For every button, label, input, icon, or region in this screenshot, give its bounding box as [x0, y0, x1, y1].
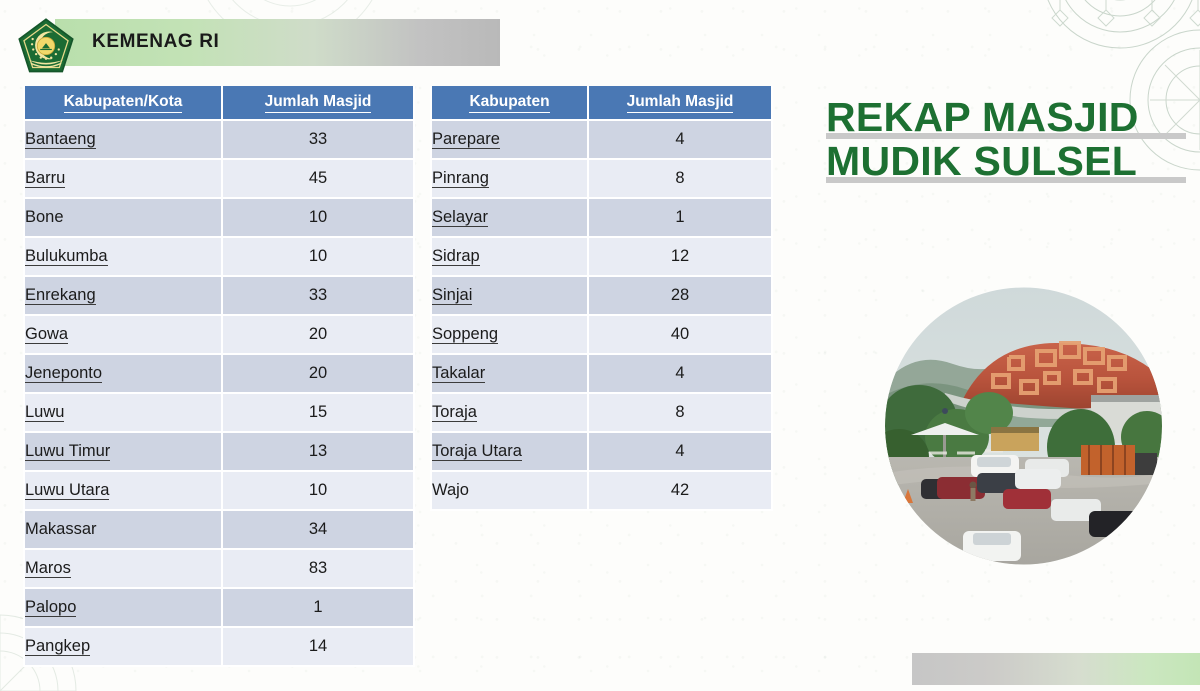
table-row[interactable]: Sidrap 12 — [431, 237, 772, 276]
cell-kabupaten: Sidrap — [431, 237, 588, 276]
cell-kabupaten: Wajo — [431, 471, 588, 510]
table2-body: Parepare 4 Pinrang 8 Selayar 1 Sidrap 12… — [431, 120, 772, 510]
cell-kabupaten: Parepare — [431, 120, 588, 159]
cell-jumlah: 34 — [222, 510, 414, 549]
header-title: KEMENAG RI — [92, 31, 219, 53]
table1-header-kabupaten: Kabupaten/Kota — [24, 86, 222, 120]
table-row[interactable]: Wajo 42 — [431, 471, 772, 510]
cell-jumlah: 12 — [588, 237, 772, 276]
cell-jumlah: 15 — [222, 393, 414, 432]
cell-jumlah: 20 — [222, 354, 414, 393]
cell-jumlah: 10 — [222, 198, 414, 237]
cell-kabupaten: Soppeng — [431, 315, 588, 354]
table1-body: Bantaeng 33 Barru 45 Bone 10 Bulukumba 1… — [24, 120, 414, 666]
table-row[interactable]: Luwu 15 — [24, 393, 414, 432]
cell-jumlah: 10 — [222, 237, 414, 276]
cell-jumlah: 20 — [222, 315, 414, 354]
cell-jumlah: 4 — [588, 354, 772, 393]
rest-area-dome-parking-photo — [885, 287, 1162, 565]
cell-jumlah: 8 — [588, 159, 772, 198]
table-row[interactable]: Bantaeng 33 — [24, 120, 414, 159]
cell-kabupaten: Maros — [24, 549, 222, 588]
table-row[interactable]: Bulukumba 10 — [24, 237, 414, 276]
table2-header-kabupaten: Kabupaten — [431, 86, 588, 120]
cell-kabupaten: Gowa — [24, 315, 222, 354]
table1-header-jumlah: Jumlah Masjid — [222, 86, 414, 120]
cell-kabupaten: Takalar — [431, 354, 588, 393]
cell-kabupaten: Luwu Timur — [24, 432, 222, 471]
table-row[interactable]: Luwu Timur 13 — [24, 432, 414, 471]
table2-header-row: Kabupaten Jumlah Masjid — [431, 86, 772, 120]
cell-kabupaten: Makassar — [24, 510, 222, 549]
table-row[interactable]: Selayar 1 — [431, 198, 772, 237]
kemenag-logo-icon — [16, 17, 76, 75]
table-row[interactable]: Gowa 20 — [24, 315, 414, 354]
bottom-accent-bar — [912, 653, 1200, 685]
cell-kabupaten: Bulukumba — [24, 237, 222, 276]
cell-kabupaten: Selayar — [431, 198, 588, 237]
table-row[interactable]: Luwu Utara 10 — [24, 471, 414, 510]
cell-jumlah: 10 — [222, 471, 414, 510]
cell-jumlah: 4 — [588, 120, 772, 159]
cell-kabupaten: Luwu Utara — [24, 471, 222, 510]
cell-kabupaten: Enrekang — [24, 276, 222, 315]
page-title: REKAP MASJID MUDIK SULSEL — [826, 96, 1186, 184]
cell-kabupaten: Palopo — [24, 588, 222, 627]
table-row[interactable]: Parepare 4 — [431, 120, 772, 159]
table-row[interactable]: Jeneponto 20 — [24, 354, 414, 393]
cell-jumlah: 33 — [222, 276, 414, 315]
table2-header-jumlah: Jumlah Masjid — [588, 86, 772, 120]
cell-kabupaten: Bantaeng — [24, 120, 222, 159]
cell-kabupaten: Pangkep — [24, 627, 222, 666]
table-row[interactable]: Palopo 1 — [24, 588, 414, 627]
page-title-line-2: MUDIK SULSEL — [826, 140, 1186, 184]
table-row[interactable]: Sinjai 28 — [431, 276, 772, 315]
cell-jumlah: 83 — [222, 549, 414, 588]
table-kabupaten: Kabupaten Jumlah Masjid Parepare 4 Pinra… — [430, 86, 773, 511]
cell-jumlah: 13 — [222, 432, 414, 471]
cell-kabupaten: Barru — [24, 159, 222, 198]
table-row[interactable]: Enrekang 33 — [24, 276, 414, 315]
table-row[interactable]: Makassar 34 — [24, 510, 414, 549]
cell-kabupaten: Bone — [24, 198, 222, 237]
table-row[interactable]: Bone 10 — [24, 198, 414, 237]
table-row[interactable]: Takalar 4 — [431, 354, 772, 393]
table-row[interactable]: Barru 45 — [24, 159, 414, 198]
table-row[interactable]: Pinrang 8 — [431, 159, 772, 198]
cell-jumlah: 8 — [588, 393, 772, 432]
cell-jumlah: 28 — [588, 276, 772, 315]
cell-kabupaten: Sinjai — [431, 276, 588, 315]
cell-kabupaten: Pinrang — [431, 159, 588, 198]
table-row[interactable]: Toraja 8 — [431, 393, 772, 432]
slide-canvas: KEMENAG RI Kabupaten/Kota Jumlah Masjid … — [0, 0, 1200, 691]
cell-kabupaten: Jeneponto — [24, 354, 222, 393]
table-row[interactable]: Soppeng 40 — [431, 315, 772, 354]
cell-kabupaten: Toraja — [431, 393, 588, 432]
table1-header-row: Kabupaten/Kota Jumlah Masjid — [24, 86, 414, 120]
cell-jumlah: 40 — [588, 315, 772, 354]
page-title-line-1: REKAP MASJID — [826, 96, 1186, 140]
cell-jumlah: 45 — [222, 159, 414, 198]
cell-jumlah: 42 — [588, 471, 772, 510]
cell-jumlah: 33 — [222, 120, 414, 159]
cell-jumlah: 14 — [222, 627, 414, 666]
cell-jumlah: 1 — [222, 588, 414, 627]
cell-kabupaten: Luwu — [24, 393, 222, 432]
table-row[interactable]: Toraja Utara 4 — [431, 432, 772, 471]
cell-jumlah: 1 — [588, 198, 772, 237]
table-row[interactable]: Pangkep 14 — [24, 627, 414, 666]
cell-kabupaten: Toraja Utara — [431, 432, 588, 471]
table-kabupaten-kota: Kabupaten/Kota Jumlah Masjid Bantaeng 33… — [23, 86, 415, 667]
table-row[interactable]: Maros 83 — [24, 549, 414, 588]
cell-jumlah: 4 — [588, 432, 772, 471]
